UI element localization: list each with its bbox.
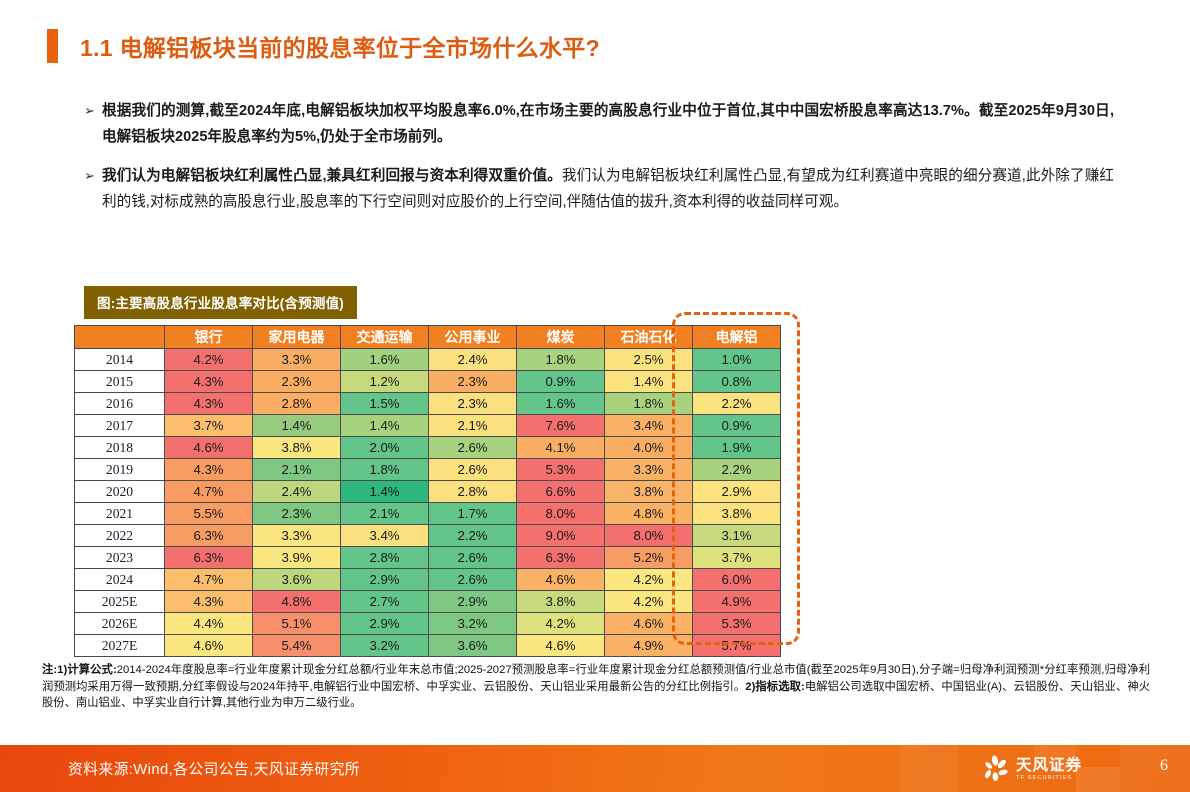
table-cell: 1.0% [693, 349, 781, 371]
table-cell: 4.0% [605, 437, 693, 459]
table-cell: 6.3% [517, 547, 605, 569]
bullet-item-1: ➢ 根据我们的测算,截至2024年底,电解铝板块加权平均股息率6.0%,在市场主… [84, 98, 1114, 150]
row-label-year: 2026E [75, 613, 165, 635]
table-row: 20164.3%2.8%1.5%2.3%1.6%1.8%2.2% [75, 393, 781, 415]
table-cell: 3.2% [341, 635, 429, 657]
table-cell: 3.8% [693, 503, 781, 525]
footer-bar: 资料来源:Wind,各公司公告,天风证券研究所 天风证券 TF SECURITI… [0, 745, 1190, 792]
tf-securities-flower-icon [980, 754, 1010, 784]
table-cell: 3.8% [605, 481, 693, 503]
table-cell: 8.0% [605, 525, 693, 547]
row-label-year: 2014 [75, 349, 165, 371]
bullet-item-2-bold: 我们认为电解铝板块红利属性凸显,兼具红利回报与资本利得双重价值。 [102, 168, 562, 184]
table-row: 2025E4.3%4.8%2.7%2.9%3.8%4.2%4.9% [75, 591, 781, 613]
footer-decor-square [1076, 767, 1120, 792]
table-cell: 2.1% [429, 415, 517, 437]
table-cell: 3.3% [253, 349, 341, 371]
table-cell: 2.6% [429, 547, 517, 569]
dividend-table-container: 银行家用电器交通运输公用事业煤炭石油石化电解铝 20144.2%3.3%1.6%… [74, 325, 780, 657]
table-row: 2027E4.6%5.4%3.2%3.6%4.6%4.9%5.7% [75, 635, 781, 657]
bullet-item-1-text: 根据我们的测算,截至2024年底,电解铝板块加权平均股息率6.0%,在市场主要的… [102, 98, 1114, 150]
table-cell: 2.1% [341, 503, 429, 525]
table-cell: 1.2% [341, 371, 429, 393]
table-row: 20144.2%3.3%1.6%2.4%1.8%2.5%1.0% [75, 349, 781, 371]
table-cell: 0.9% [517, 371, 605, 393]
table-cell: 3.3% [253, 525, 341, 547]
table-cell: 0.8% [693, 371, 781, 393]
table-cell: 2.4% [253, 481, 341, 503]
table-row: 20194.3%2.1%1.8%2.6%5.3%3.3%2.2% [75, 459, 781, 481]
table-cell: 2.4% [429, 349, 517, 371]
table-cell: 5.3% [517, 459, 605, 481]
table-cell: 3.4% [605, 415, 693, 437]
row-label-year: 2022 [75, 525, 165, 547]
table-cell: 3.8% [517, 591, 605, 613]
bullet-item-2: ➢ 我们认为电解铝板块红利属性凸显,兼具红利回报与资本利得双重价值。我们认为电解… [84, 163, 1114, 215]
row-label-year: 2025E [75, 591, 165, 613]
title-accent-bar [47, 29, 58, 63]
table-cell: 7.6% [517, 415, 605, 437]
row-label-year: 2017 [75, 415, 165, 437]
footer-source-text: 资料来源:Wind,各公司公告,天风证券研究所 [68, 758, 360, 779]
column-header-3: 交通运输 [341, 326, 429, 349]
table-cell: 4.3% [165, 393, 253, 415]
logo-text: 天风证券 TF SECURITIES [1016, 757, 1082, 782]
table-cell: 6.3% [165, 525, 253, 547]
table-cell: 5.2% [605, 547, 693, 569]
bullet-item-2-text: 我们认为电解铝板块红利属性凸显,兼具红利回报与资本利得双重价值。我们认为电解铝板… [102, 163, 1114, 215]
logo-company-name: 天风证券 [1016, 757, 1082, 774]
table-cell: 2.3% [429, 393, 517, 415]
column-header-7: 电解铝 [693, 326, 781, 349]
table-cell: 5.5% [165, 503, 253, 525]
footer-decor-square [1120, 745, 1190, 792]
table-cell: 0.9% [693, 415, 781, 437]
table-row: 20154.3%2.3%1.2%2.3%0.9%1.4%0.8% [75, 371, 781, 393]
table-cell: 4.6% [517, 569, 605, 591]
table-cell: 2.3% [253, 503, 341, 525]
page-number: 6 [1160, 757, 1168, 775]
table-row: 20226.3%3.3%3.4%2.2%9.0%8.0%3.1% [75, 525, 781, 547]
table-cell: 4.4% [165, 613, 253, 635]
table-row: 20215.5%2.3%2.1%1.7%8.0%4.8%3.8% [75, 503, 781, 525]
table-cell: 3.7% [693, 547, 781, 569]
table-cell: 1.4% [253, 415, 341, 437]
table-cell: 2.7% [341, 591, 429, 613]
table-cell: 1.4% [341, 481, 429, 503]
table-cell: 4.3% [165, 459, 253, 481]
dividend-yield-table: 银行家用电器交通运输公用事业煤炭石油石化电解铝 20144.2%3.3%1.6%… [74, 325, 781, 657]
bullet-arrow-icon: ➢ [84, 163, 102, 189]
table-cell: 4.6% [517, 635, 605, 657]
row-label-year: 2019 [75, 459, 165, 481]
table-cell: 1.6% [517, 393, 605, 415]
table-cell: 2.9% [693, 481, 781, 503]
table-cell: 3.4% [341, 525, 429, 547]
table-cell: 1.6% [341, 349, 429, 371]
slide-header: 1.1 电解铝板块当前的股息率位于全市场什么水平? [0, 24, 1190, 68]
table-cell: 4.2% [165, 349, 253, 371]
table-cell: 5.4% [253, 635, 341, 657]
table-cell: 9.0% [517, 525, 605, 547]
footnote-label-1: 1)计算公式: [57, 664, 117, 676]
footer-decor-square [900, 745, 958, 792]
table-cell: 4.8% [253, 591, 341, 613]
footnote-label-2: 2)指标选取: [745, 681, 804, 693]
table-cell: 2.6% [429, 437, 517, 459]
column-header-1: 银行 [165, 326, 253, 349]
table-cell: 6.0% [693, 569, 781, 591]
table-cell: 3.9% [253, 547, 341, 569]
bullet-item-1-bold: 根据我们的测算,截至2024年底,电解铝板块加权平均股息率6.0%,在市场主要的… [102, 103, 1114, 145]
table-cell: 1.8% [605, 393, 693, 415]
table-cell: 4.3% [165, 371, 253, 393]
table-row: 20236.3%3.9%2.8%2.6%6.3%5.2%3.7% [75, 547, 781, 569]
bullet-list: ➢ 根据我们的测算,截至2024年底,电解铝板块加权平均股息率6.0%,在市场主… [84, 98, 1114, 228]
table-row: 20184.6%3.8%2.0%2.6%4.1%4.0%1.9% [75, 437, 781, 459]
table-cell: 2.2% [693, 459, 781, 481]
row-label-year: 2024 [75, 569, 165, 591]
table-cell: 1.4% [605, 371, 693, 393]
table-cell: 4.7% [165, 569, 253, 591]
table-cell: 2.0% [341, 437, 429, 459]
table-cell: 4.3% [165, 591, 253, 613]
row-label-year: 2020 [75, 481, 165, 503]
table-cell: 3.6% [429, 635, 517, 657]
table-cell: 2.9% [341, 613, 429, 635]
table-cell: 4.6% [165, 635, 253, 657]
footnote-prefix: 注: [42, 664, 57, 676]
table-cell: 2.2% [429, 525, 517, 547]
row-label-year: 2015 [75, 371, 165, 393]
table-row: 20173.7%1.4%1.4%2.1%7.6%3.4%0.9% [75, 415, 781, 437]
table-cell: 3.3% [605, 459, 693, 481]
table-cell: 1.8% [517, 349, 605, 371]
table-cell: 1.4% [341, 415, 429, 437]
company-logo: 天风证券 TF SECURITIES [980, 753, 1082, 785]
column-header-5: 煤炭 [517, 326, 605, 349]
table-cell: 4.2% [605, 591, 693, 613]
table-cell: 2.6% [429, 569, 517, 591]
table-cell: 4.6% [605, 613, 693, 635]
table-cell: 3.1% [693, 525, 781, 547]
table-cell: 4.2% [517, 613, 605, 635]
row-label-year: 2027E [75, 635, 165, 657]
row-label-year: 2023 [75, 547, 165, 569]
table-cell: 1.5% [341, 393, 429, 415]
table-cell: 4.9% [693, 591, 781, 613]
table-cell: 8.0% [517, 503, 605, 525]
table-cell: 2.2% [693, 393, 781, 415]
table-cell: 1.8% [341, 459, 429, 481]
table-cell: 2.6% [429, 459, 517, 481]
bullet-arrow-icon: ➢ [84, 98, 102, 124]
table-row: 2026E4.4%5.1%2.9%3.2%4.2%4.6%5.3% [75, 613, 781, 635]
table-header-row: 银行家用电器交通运输公用事业煤炭石油石化电解铝 [75, 326, 781, 349]
table-cell: 5.3% [693, 613, 781, 635]
footnote-block: 注:1)计算公式:2014-2024年度股息率=行业年度累计现金分红总额/行业年… [42, 662, 1150, 712]
table-cell: 3.6% [253, 569, 341, 591]
table-header: 银行家用电器交通运输公用事业煤炭石油石化电解铝 [75, 326, 781, 349]
table-cell: 1.7% [429, 503, 517, 525]
table-cell: 6.6% [517, 481, 605, 503]
table-cell: 2.8% [253, 393, 341, 415]
chart-title-tag: 图:主要高股息行业股息率对比(含预测值) [84, 286, 357, 319]
table-cell: 4.2% [605, 569, 693, 591]
table-cell: 5.1% [253, 613, 341, 635]
logo-company-subtitle: TF SECURITIES [1016, 774, 1082, 782]
table-row: 20244.7%3.6%2.9%2.6%4.6%4.2%6.0% [75, 569, 781, 591]
table-cell: 2.8% [429, 481, 517, 503]
table-cell: 1.9% [693, 437, 781, 459]
table-cell: 2.9% [429, 591, 517, 613]
column-header-6: 石油石化 [605, 326, 693, 349]
table-cell: 2.3% [253, 371, 341, 393]
table-cell: 4.6% [165, 437, 253, 459]
table-corner-cell [75, 326, 165, 349]
table-cell: 5.7% [693, 635, 781, 657]
table-body: 20144.2%3.3%1.6%2.4%1.8%2.5%1.0%20154.3%… [75, 349, 781, 657]
page-title: 1.1 电解铝板块当前的股息率位于全市场什么水平? [80, 29, 600, 63]
table-cell: 3.8% [253, 437, 341, 459]
table-cell: 2.5% [605, 349, 693, 371]
table-cell: 2.8% [341, 547, 429, 569]
row-label-year: 2021 [75, 503, 165, 525]
table-cell: 3.2% [429, 613, 517, 635]
row-label-year: 2018 [75, 437, 165, 459]
table-row: 20204.7%2.4%1.4%2.8%6.6%3.8%2.9% [75, 481, 781, 503]
table-cell: 4.9% [605, 635, 693, 657]
table-cell: 2.9% [341, 569, 429, 591]
column-header-4: 公用事业 [429, 326, 517, 349]
column-header-2: 家用电器 [253, 326, 341, 349]
table-cell: 4.1% [517, 437, 605, 459]
table-cell: 2.3% [429, 371, 517, 393]
table-cell: 3.7% [165, 415, 253, 437]
table-cell: 6.3% [165, 547, 253, 569]
row-label-year: 2016 [75, 393, 165, 415]
table-cell: 2.1% [253, 459, 341, 481]
table-cell: 4.7% [165, 481, 253, 503]
table-cell: 4.8% [605, 503, 693, 525]
